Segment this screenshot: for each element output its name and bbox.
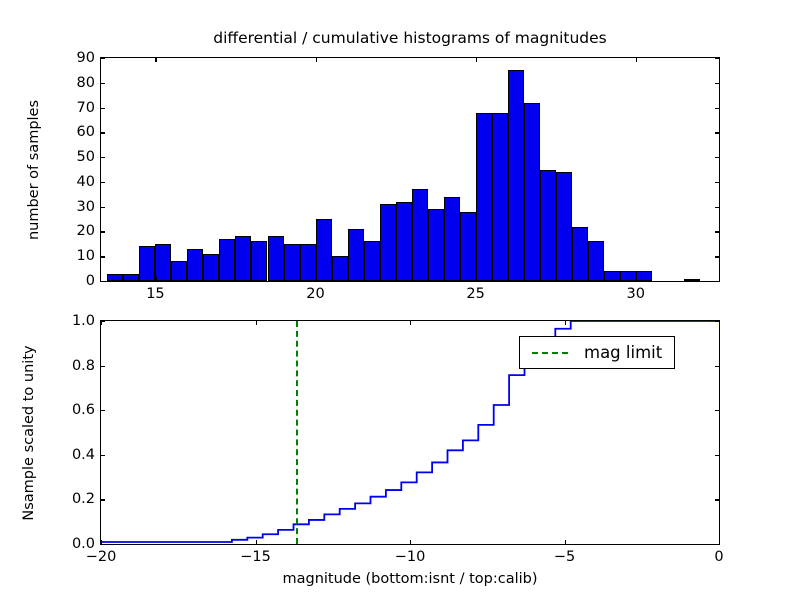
y-tick-label: 0.2 [72, 491, 95, 507]
x-tick-label: 20 [306, 286, 324, 302]
histogram-bar [380, 204, 396, 281]
histogram-bar [284, 244, 300, 281]
x-tick-mark [636, 58, 637, 62]
y-tick-mark [101, 256, 105, 257]
y-tick-mark-right [715, 157, 719, 158]
y-tick-mark-right [715, 544, 719, 545]
y-tick-mark [101, 231, 105, 232]
histogram-bar [268, 236, 284, 281]
y-tick-mark [101, 108, 105, 109]
histogram-bar [219, 239, 235, 281]
histogram-bar [235, 236, 251, 281]
y-tick-mark-right [715, 231, 719, 232]
x-tick-label: 15 [146, 286, 164, 302]
y-tick-mark [101, 132, 105, 133]
y-tick-label: 90 [77, 50, 95, 66]
x-tick-mark-bottom [636, 277, 637, 281]
y-tick-mark [101, 281, 105, 282]
y-tick-mark [101, 410, 105, 411]
y-tick-label: 20 [77, 223, 95, 239]
x-tick-mark-bottom [719, 540, 720, 544]
x-tick-label: −15 [240, 549, 271, 565]
histogram-bar [604, 271, 620, 281]
y-tick-label: 80 [77, 75, 95, 91]
histogram-bar [620, 271, 636, 281]
mag-limit-line-swatch [532, 352, 568, 354]
histogram-bar [203, 254, 219, 281]
histogram-bar [508, 70, 524, 281]
histogram-bar [412, 189, 428, 281]
y-tick-mark-right [715, 281, 719, 282]
figure-title: differential / cumulative histograms of … [101, 29, 719, 47]
histogram-bar [444, 197, 460, 281]
y-tick-mark [101, 366, 105, 367]
legend-label-mag-limit: mag limit [584, 343, 662, 362]
y-tick-label: 70 [77, 100, 95, 116]
y-tick-mark-right [715, 83, 719, 84]
histogram-bar [636, 271, 652, 281]
y-tick-mark-right [715, 207, 719, 208]
x-tick-label: −10 [395, 549, 426, 565]
x-tick-label: 25 [466, 286, 484, 302]
y-tick-mark-right [715, 108, 719, 109]
x-tick-mark [719, 321, 720, 325]
legend: mag limit [519, 336, 675, 369]
histogram-bar [476, 113, 492, 281]
histogram-bar [171, 261, 187, 281]
histogram-bar [492, 113, 508, 281]
x-tick-mark-bottom [256, 540, 257, 544]
y-tick-label: 50 [77, 149, 95, 165]
histogram-bar [332, 256, 348, 281]
histogram-bar [684, 279, 700, 281]
histogram-bar [348, 229, 364, 281]
histogram-bar [139, 246, 155, 281]
x-tick-mark [410, 321, 411, 325]
y-tick-mark-right [715, 132, 719, 133]
y-tick-mark [101, 544, 105, 545]
histogram-bar [396, 202, 412, 281]
histogram-bar [540, 170, 556, 282]
y-tick-label: 0.6 [72, 402, 95, 418]
x-tick-mark [476, 58, 477, 62]
histogram-bar [107, 274, 123, 281]
histogram-bar [123, 274, 139, 281]
histogram-bar [572, 227, 588, 282]
y-tick-label: 0.8 [72, 358, 95, 374]
y-tick-mark [101, 58, 105, 59]
x-tick-mark-bottom [316, 277, 317, 281]
x-tick-mark-bottom [476, 277, 477, 281]
histogram-bar [428, 209, 444, 281]
x-tick-label: 30 [627, 286, 645, 302]
differential-histogram-axes: differential / cumulative histograms of … [100, 57, 720, 282]
y-tick-mark [101, 83, 105, 84]
y-tick-mark-right [715, 366, 719, 367]
y-tick-mark-right [715, 58, 719, 59]
y-tick-label: 0.4 [72, 447, 95, 463]
histogram-bar [364, 241, 380, 281]
y-tick-mark-right [715, 182, 719, 183]
histogram-bar [524, 103, 540, 281]
histogram-bar [556, 172, 572, 281]
x-tick-mark-bottom [565, 540, 566, 544]
histogram-bar [588, 241, 604, 281]
x-tick-label: −5 [554, 549, 575, 565]
histogram-bar [187, 249, 203, 281]
y-tick-mark [101, 157, 105, 158]
y-tick-mark-right [715, 410, 719, 411]
x-tick-mark [101, 321, 102, 325]
y-tick-mark-right [715, 256, 719, 257]
cumulative-histogram-axes: Nsample scaled to unity magnitude (botto… [100, 320, 720, 545]
y-tick-label: 0 [86, 273, 95, 289]
y-tick-mark [101, 182, 105, 183]
x-tick-mark [256, 321, 257, 325]
y-tick-label: 10 [77, 248, 95, 264]
histogram-bar [155, 244, 171, 281]
mag-limit-vline [296, 321, 298, 544]
y-tick-label: 40 [77, 174, 95, 190]
y-tick-label: 60 [77, 124, 95, 140]
histogram-bar [316, 219, 332, 281]
histogram-bar [460, 212, 476, 281]
x-tick-label: −20 [86, 549, 117, 565]
y-tick-mark [101, 499, 105, 500]
x-tick-label: 0 [714, 549, 723, 565]
histogram-bar [251, 241, 267, 281]
y-tick-mark-right [715, 455, 719, 456]
histogram-bar [300, 244, 316, 281]
x-tick-mark [316, 58, 317, 62]
top-y-axis-label: number of samples [26, 99, 42, 239]
x-axis-label: magnitude (bottom:isnt / top:calib) [101, 571, 719, 587]
y-tick-mark [101, 455, 105, 456]
x-tick-mark-bottom [155, 277, 156, 281]
y-tick-label: 30 [77, 199, 95, 215]
y-tick-mark [101, 207, 105, 208]
x-tick-mark-bottom [101, 540, 102, 544]
x-tick-mark [155, 58, 156, 62]
bottom-y-axis-label: Nsample scaled to unity [21, 345, 37, 520]
y-tick-label: 1.0 [72, 313, 95, 329]
y-tick-mark-right [715, 499, 719, 500]
top-plot-area [101, 58, 719, 281]
x-tick-mark [565, 321, 566, 325]
x-tick-mark-bottom [410, 540, 411, 544]
figure-canvas: differential / cumulative histograms of … [0, 0, 800, 600]
